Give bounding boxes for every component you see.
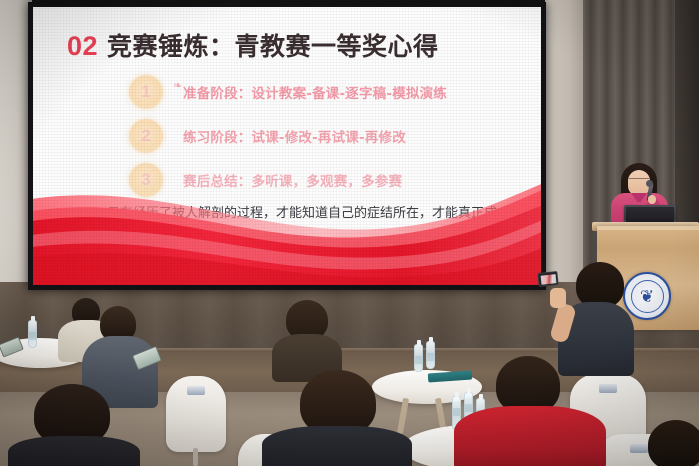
- audience-torso: [454, 406, 606, 466]
- slide-title: 02 竞赛锤炼：青教赛一等奖心得: [67, 27, 439, 63]
- step-text-1: 准备阶段：设计教案-备课-逐字稿-模拟演练: [183, 82, 447, 102]
- audience-member-6: [648, 420, 699, 466]
- presentation-slide: 02 竞赛锤炼：青教赛一等奖心得 ✦ ✦ 1 ❧ 准备阶段：设计教案-备课-逐字…: [33, 7, 541, 285]
- hand: [550, 288, 566, 308]
- step-text-2: 练习阶段：试课-修改-再试课-再修改: [183, 126, 406, 146]
- audience-torso: [8, 436, 140, 466]
- audience-member-4: [278, 370, 394, 466]
- chair-leg: [193, 448, 198, 466]
- audience-member-5: [470, 356, 588, 466]
- slide-title-number: 02: [67, 31, 98, 62]
- audience-torso: [262, 426, 412, 466]
- step-badge-1: 1: [129, 75, 163, 109]
- audience-head: [648, 420, 699, 466]
- phone-screen: [540, 274, 556, 285]
- sparkle-icon: ❧: [173, 81, 185, 93]
- led-screen-bezel: 02 竞赛锤炼：青教赛一等奖心得 ✦ ✦ 1 ❧ 准备阶段：设计教案-备课-逐字…: [28, 2, 546, 290]
- chair-tag: [630, 444, 648, 453]
- slide-step-1: ✦ ✦ 1 ❧ 准备阶段：设计教案-备课-逐字稿-模拟演练: [129, 71, 529, 113]
- slide-red-wave-graphic: [33, 177, 541, 285]
- water-bottle: [426, 341, 435, 369]
- microphone-head: [646, 180, 653, 187]
- audience-member-3: [18, 384, 126, 466]
- conference-photo: 02 竞赛锤炼：青教赛一等奖心得 ✦ ✦ 1 ❧ 准备阶段：设计教案-备课-逐字…: [0, 0, 699, 466]
- chair-tag: [599, 384, 617, 393]
- presenter-hand: [648, 195, 656, 204]
- slide-title-text: 竞赛锤炼：青教赛一等奖心得: [107, 27, 439, 63]
- smartphone-recording: [537, 271, 558, 287]
- laptop-screen: [626, 207, 674, 222]
- slide-step-2: 2 练习阶段：试课-修改-再试课-再修改: [129, 115, 529, 157]
- audience-member-centre: [272, 300, 342, 378]
- chair: [166, 376, 226, 452]
- emblem-glyph-icon: ❦: [631, 280, 664, 313]
- water-bottle: [414, 344, 423, 372]
- chair-tag: [187, 386, 205, 395]
- step-badge-2: 2: [129, 119, 163, 153]
- water-bottle: [28, 320, 37, 348]
